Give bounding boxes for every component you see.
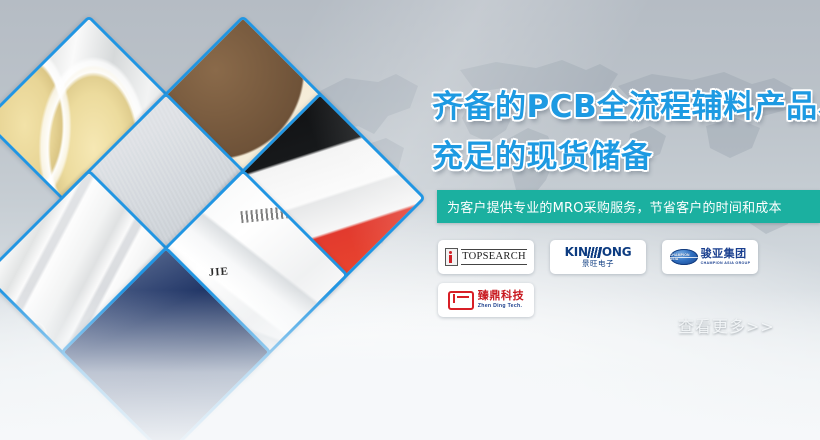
champion-english-name: CHAMPION ASIA GROUP <box>701 262 751 266</box>
client-logo-zhen-ding[interactable]: 臻鼎科技 Zhen Ding Tech. <box>438 283 534 317</box>
headline-line-2: 充足的现货储备 <box>432 132 820 182</box>
banner-content: 齐备的PCB全流程辅料产品、 充足的现货储备 为客户提供专业的MRO采购服务，节… <box>430 0 820 440</box>
release-paper-label: JIE <box>208 265 229 278</box>
zhen-ding-mark-icon <box>448 291 474 310</box>
champion-chinese-name: 骏亚集团 <box>701 249 751 260</box>
topsearch-wordmark: TOPSEARCH <box>461 249 527 265</box>
view-more-link[interactable]: 查看更多>> <box>678 313 775 337</box>
client-logo-kinwong[interactable]: KINONG 景旺电子 <box>550 240 646 274</box>
banner-subtitle-bar: 为客户提供专业的MRO采购服务，节省客户的时间和成本 <box>437 190 820 223</box>
champion-globe-icon: CHAMPION ASIA <box>670 249 698 265</box>
client-logo-topsearch[interactable]: TOPSEARCH <box>438 240 534 274</box>
client-logo-row-2: 臻鼎科技 Zhen Ding Tech. <box>438 283 820 317</box>
promo-banner: JIE 齐备的PCB全流程辅料产品、 充足的现货储备 为客户提供专业的MRO采购… <box>0 0 820 440</box>
kinwong-chinese-name: 景旺电子 <box>565 260 632 268</box>
kinwong-wordmark: KINONG <box>565 246 632 258</box>
product-collage: JIE <box>0 28 412 440</box>
topsearch-mark-icon <box>445 248 458 266</box>
kinwong-wordmark-part1: KIN <box>565 246 588 258</box>
kinwong-w-mark-icon <box>587 247 602 258</box>
client-logo-champion-asia[interactable]: CHAMPION ASIA 骏亚集团 CHAMPION ASIA GROUP <box>662 240 758 274</box>
zhen-ding-chinese-name: 臻鼎科技 <box>478 291 524 302</box>
banner-subtitle-text: 为客户提供专业的MRO采购服务，节省客户的时间和成本 <box>437 197 782 216</box>
banner-headline: 齐备的PCB全流程辅料产品、 充足的现货储备 <box>432 82 820 182</box>
kinwong-wordmark-part2: ONG <box>602 246 632 258</box>
zhen-ding-english-name: Zhen Ding Tech. <box>478 304 524 309</box>
client-logo-row-1: TOPSEARCH KINONG 景旺电子 CHAMPION ASIA <box>438 240 820 274</box>
headline-line-1: 齐备的PCB全流程辅料产品、 <box>432 89 820 125</box>
